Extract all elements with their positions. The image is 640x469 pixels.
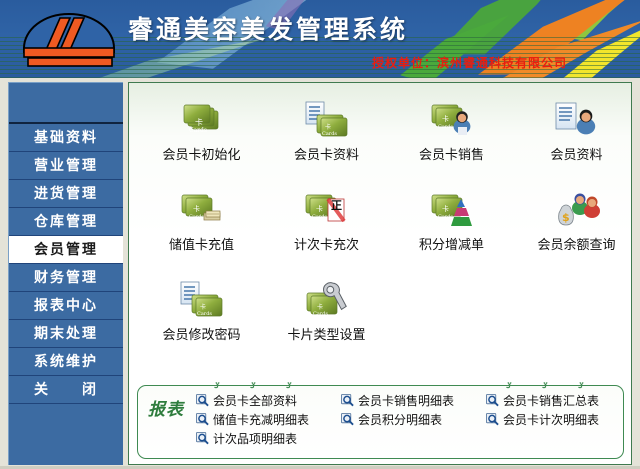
- pin-decor-icon: [250, 382, 257, 391]
- sidebar-item-label: 进货管理: [34, 186, 98, 202]
- document-person-icon: [524, 89, 629, 141]
- report-link[interactable]: 储值卡充减明细表: [196, 410, 341, 429]
- svg-text:Cards: Cards: [197, 311, 212, 317]
- function-icon-label: 会员卡资料: [274, 144, 379, 163]
- sidebar-item-label: 财务管理: [34, 270, 98, 286]
- function-icon-label: 会员修改密码: [149, 324, 254, 343]
- function-icon-grid: 卡Cards会员卡初始化卡Cards会员卡资料卡Cards会员卡销售会员资料卡C…: [129, 89, 633, 381]
- sidebar-item-base-data[interactable]: 基础资料: [9, 124, 123, 152]
- function-icon-7[interactable]: $会员余额查询: [524, 179, 629, 269]
- reports-column: 会员卡全部资料储值卡充减明细表计次品项明细表: [196, 391, 341, 448]
- report-link-label: 会员卡销售汇总表: [503, 392, 599, 409]
- reports-link-columns: 会员卡全部资料储值卡充减明细表计次品项明细表会员卡销售明细表会员积分明细表会员卡…: [196, 391, 631, 448]
- function-icon-label: 计次卡充次: [274, 234, 379, 253]
- sidebar-nav: 基础资料营业管理进货管理仓库管理会员管理财务管理报表中心期末处理系统维护关 闭: [8, 82, 123, 465]
- magnifier-icon: [486, 394, 499, 407]
- sidebar-item-warehouse[interactable]: 仓库管理: [9, 208, 123, 236]
- svg-text:卡: 卡: [442, 114, 449, 123]
- function-icon-1[interactable]: 卡Cards会员卡资料: [274, 89, 379, 179]
- page-title: 睿通美容美发管理系统: [128, 10, 408, 46]
- icon-cell-empty: [399, 269, 504, 359]
- sidebar-item-label: 报表中心: [34, 298, 98, 314]
- svg-text:卡: 卡: [442, 204, 449, 213]
- report-link[interactable]: 会员卡全部资料: [196, 391, 341, 410]
- function-icon-2[interactable]: 卡Cards会员卡销售: [399, 89, 504, 179]
- report-link[interactable]: 计次品项明细表: [196, 429, 341, 448]
- report-link-label: 储值卡充减明细表: [213, 411, 309, 428]
- sidebar-item-maintenance[interactable]: 系统维护: [9, 348, 123, 376]
- icon-row: 卡Cards储值卡充值卡Cards正计次卡充次卡Cards积分增减单$会员余额查…: [129, 179, 633, 269]
- magnifier-icon: [341, 394, 354, 407]
- magnifier-icon: [196, 394, 209, 407]
- sidebar-bottom-filler: [9, 404, 123, 464]
- svg-text:Cards: Cards: [322, 131, 337, 137]
- report-link-label: 会员卡计次明细表: [503, 411, 599, 428]
- report-link-label: 计次品项明细表: [213, 430, 297, 447]
- report-link[interactable]: 会员卡销售明细表: [341, 391, 486, 410]
- magnifier-icon: [341, 413, 354, 426]
- sidebar-item-label: 会员管理: [34, 242, 98, 258]
- card-tally-icon: 卡Cards正: [274, 179, 379, 231]
- function-icon-6[interactable]: 卡Cards积分增减单: [399, 179, 504, 269]
- svg-text:卡: 卡: [195, 117, 203, 127]
- svg-text:Cards: Cards: [438, 124, 453, 130]
- sidebar-item-label: 关 闭: [34, 382, 98, 398]
- main-content-panel: 卡Cards会员卡初始化卡Cards会员卡资料卡Cards会员卡销售会员资料卡C…: [128, 82, 632, 465]
- svg-text:Cards: Cards: [312, 214, 327, 220]
- card-wrench-icon: 卡Cards: [274, 269, 379, 321]
- svg-text:Cards: Cards: [313, 311, 328, 317]
- svg-text:Cards: Cards: [438, 214, 453, 220]
- pin-decor-icon: [578, 382, 585, 391]
- icon-row: 卡Cards会员修改密码卡Cards卡片类型设置: [129, 269, 633, 359]
- document-card-icon: 卡Cards: [274, 89, 379, 141]
- empty-icon: [399, 269, 504, 321]
- sidebar-item-label: 期末处理: [34, 326, 98, 342]
- empty-icon: [524, 269, 629, 321]
- svg-text:卡: 卡: [316, 204, 323, 213]
- function-icon-label: 会员资料: [524, 144, 629, 163]
- sidebar-item-period-close[interactable]: 期末处理: [9, 320, 123, 348]
- sidebar-item-purchase[interactable]: 进货管理: [9, 180, 123, 208]
- svg-text:卡: 卡: [200, 303, 206, 311]
- function-icon-5[interactable]: 卡Cards正计次卡充次: [274, 179, 379, 269]
- svg-text:Cards: Cards: [189, 127, 207, 134]
- sidebar-item-finance[interactable]: 财务管理: [9, 264, 123, 292]
- function-icon-8[interactable]: 卡Cards会员修改密码: [149, 269, 254, 359]
- function-icon-label: 储值卡充值: [149, 234, 254, 253]
- app-header: 睿通美容美发管理系统 授权单位：滨州睿通科技有限公司: [0, 0, 640, 78]
- sidebar-item-label: 仓库管理: [34, 214, 98, 230]
- sidebar-top-panel: [9, 83, 123, 124]
- function-icon-label: 会员卡初始化: [149, 144, 254, 163]
- document-cards-icon: 卡Cards: [149, 269, 254, 321]
- sidebar-item-business[interactable]: 营业管理: [9, 152, 123, 180]
- sidebar-item-close[interactable]: 关 闭: [9, 376, 123, 404]
- pin-decor-icon: [214, 382, 221, 391]
- report-link-label: 会员卡全部资料: [213, 392, 297, 409]
- card-stack-icon: 卡Cards: [149, 89, 254, 141]
- reports-panel-title: 报表: [148, 395, 184, 420]
- card-pyramid-icon: 卡Cards: [399, 179, 504, 231]
- report-link[interactable]: 会员卡销售汇总表: [486, 391, 631, 410]
- pin-decor-icon: [542, 382, 549, 391]
- card-money-icon: 卡Cards: [149, 179, 254, 231]
- card-person-icon: 卡Cards: [399, 89, 504, 141]
- magnifier-icon: [196, 413, 209, 426]
- moneybag-people-icon: $: [524, 179, 629, 231]
- license-text: 授权单位：滨州睿通科技有限公司: [372, 54, 567, 71]
- sidebar-item-reports[interactable]: 报表中心: [9, 292, 123, 320]
- sidebar-item-label: 基础资料: [34, 130, 98, 146]
- function-icon-label: 卡片类型设置: [274, 324, 379, 343]
- svg-text:卡: 卡: [193, 204, 200, 213]
- pin-decor-icon: [506, 382, 513, 391]
- reports-column: 会员卡销售汇总表会员卡计次明细表: [486, 391, 631, 448]
- function-icon-0[interactable]: 卡Cards会员卡初始化: [149, 89, 254, 179]
- report-link[interactable]: 会员积分明细表: [341, 410, 486, 429]
- sidebar-item-label: 营业管理: [34, 158, 98, 174]
- sidebar-item-member[interactable]: 会员管理: [9, 236, 123, 264]
- function-icon-label: 积分增减单: [399, 234, 504, 253]
- icon-cell-empty: [524, 269, 629, 359]
- function-icon-4[interactable]: 卡Cards储值卡充值: [149, 179, 254, 269]
- svg-text:卡: 卡: [317, 303, 323, 311]
- svg-text:卡: 卡: [325, 123, 331, 131]
- function-icon-label: 会员卡销售: [399, 144, 504, 163]
- report-link-label: 会员卡销售明细表: [358, 392, 454, 409]
- magnifier-icon: [196, 432, 209, 445]
- application-window: 睿通美容美发管理系统 授权单位：滨州睿通科技有限公司 基础资料营业管理进货管理仓…: [0, 0, 640, 469]
- svg-text:$: $: [562, 211, 570, 224]
- report-link-label: 会员积分明细表: [358, 411, 442, 428]
- reports-column: 会员卡销售明细表会员积分明细表: [341, 391, 486, 448]
- pin-decor-icon: [286, 382, 293, 391]
- icon-row: 卡Cards会员卡初始化卡Cards会员卡资料卡Cards会员卡销售会员资料: [129, 89, 633, 179]
- company-logo-icon: [16, 8, 122, 72]
- magnifier-icon: [486, 413, 499, 426]
- svg-text:Cards: Cards: [189, 214, 204, 220]
- sidebar-item-label: 系统维护: [34, 354, 98, 370]
- function-icon-3[interactable]: 会员资料: [524, 89, 629, 179]
- reports-panel: 报表 会员卡全部资料储值卡充减明细表计次品项明细表会员卡销售明细表会员积分明细表…: [137, 385, 624, 459]
- svg-text:正: 正: [331, 199, 342, 212]
- function-icon-9[interactable]: 卡Cards卡片类型设置: [274, 269, 379, 359]
- report-link[interactable]: 会员卡计次明细表: [486, 410, 631, 429]
- sidebar-item-list: 基础资料营业管理进货管理仓库管理会员管理财务管理报表中心期末处理系统维护关 闭: [9, 124, 123, 404]
- function-icon-label: 会员余额查询: [524, 234, 629, 253]
